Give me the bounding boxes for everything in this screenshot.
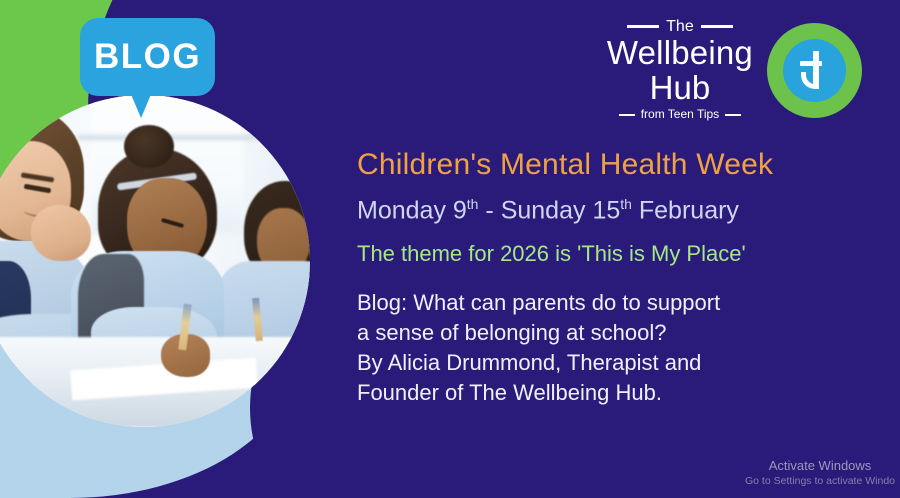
wellbeing-hub-logo: The Wellbeing Hub from Teen Tips <box>607 18 862 122</box>
logo-t-crossbar <box>800 61 822 66</box>
photo-child-left-hand <box>31 205 91 261</box>
blog-line-3: By Alicia Drummond, Therapist and <box>357 348 877 378</box>
logo-tagline-row: from Teen Tips <box>607 107 753 122</box>
blog-description: Blog: What can parents do to support a s… <box>357 288 877 408</box>
watermark-subtitle: Go to Settings to activate Windo <box>740 474 900 488</box>
windows-activation-watermark: Activate Windows Go to Settings to activ… <box>740 457 900 488</box>
date-separator: - <box>478 196 500 224</box>
logo-rule-left-icon <box>627 25 659 28</box>
blog-promo-banner: BLOG The Wellbeing Hub from Teen Tips <box>0 0 900 498</box>
date-start: Monday 9 <box>357 196 467 224</box>
classroom-photo-content <box>0 95 310 427</box>
banner-text-block: Children's Mental Health Week Monday 9th… <box>357 146 877 408</box>
logo-rule-right-icon <box>701 25 733 28</box>
photo-child-center-hair-bun <box>124 125 174 168</box>
watermark-title: Activate Windows <box>740 457 900 474</box>
logo-tagline-rule-right-icon <box>725 114 741 116</box>
date-end: Sunday 15 <box>501 196 621 224</box>
logo-pre-word: The <box>666 18 694 35</box>
logo-pre-word-row: The <box>607 18 753 35</box>
photo-window-frame <box>78 135 271 140</box>
date-end-ordinal: th <box>620 196 632 212</box>
page-title: Children's Mental Health Week <box>357 146 877 184</box>
blog-badge-tail-icon <box>130 92 152 118</box>
date-start-ordinal: th <box>467 196 479 212</box>
logo-wordmark: The Wellbeing Hub from Teen Tips <box>607 18 753 122</box>
classroom-photo <box>0 95 310 427</box>
left-visual-panel: BLOG <box>0 0 330 498</box>
logo-t-hook <box>801 72 819 89</box>
logo-name-line-1: Wellbeing <box>607 35 753 70</box>
blog-line-4: Founder of The Wellbeing Hub. <box>357 378 877 408</box>
teen-tips-t-monogram-icon <box>767 23 862 118</box>
blog-line-1: Blog: What can parents do to support <box>357 288 877 318</box>
blog-line-2: a sense of belonging at school? <box>357 318 877 348</box>
date-month: February <box>632 196 739 224</box>
logo-mark-inner-circle <box>783 39 846 102</box>
blog-badge: BLOG <box>80 18 215 96</box>
event-theme: The theme for 2026 is 'This is My Place' <box>357 234 877 274</box>
blog-badge-label: BLOG <box>80 18 215 96</box>
logo-name-line-2: Hub <box>607 70 753 105</box>
logo-tagline: from Teen Tips <box>641 107 719 122</box>
event-dates: Monday 9th - Sunday 15th February <box>357 184 877 230</box>
logo-tagline-rule-left-icon <box>619 114 635 116</box>
